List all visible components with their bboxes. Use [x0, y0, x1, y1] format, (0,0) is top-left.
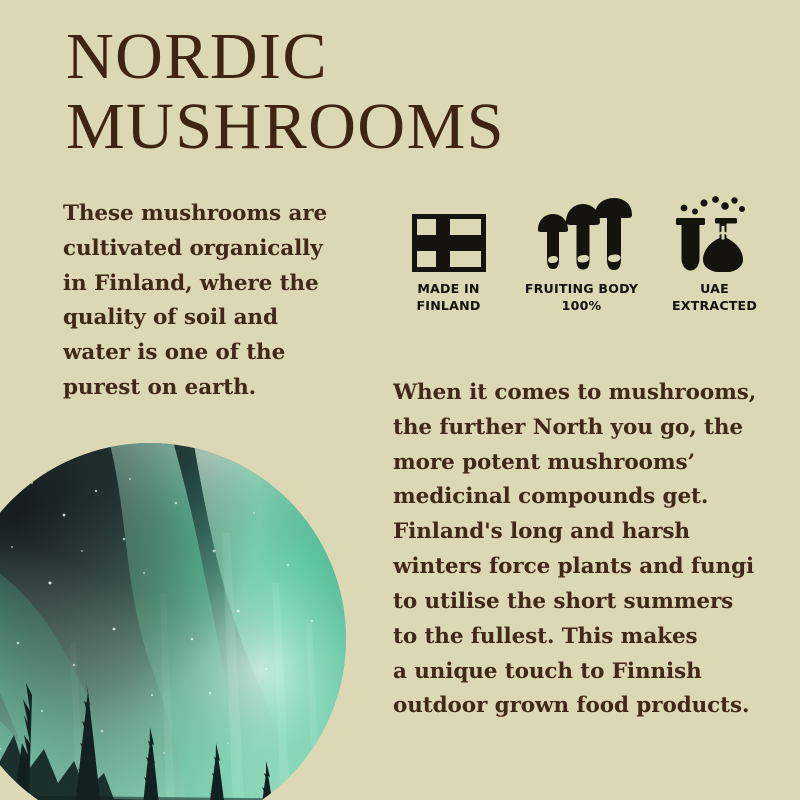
- intro-paragraph-line: water is one of the: [63, 336, 348, 371]
- badge-label-made-in-finland: MADE IN FINLAND: [417, 281, 481, 315]
- intro-paragraph-line: in Finland, where the: [63, 267, 348, 302]
- poster-canvas: NORDIC MUSHROOMS These mushrooms are cul…: [0, 0, 800, 800]
- three-mushrooms-icon: [532, 196, 632, 272]
- aurora-borealis-circle-photo: [0, 443, 346, 800]
- detail-paragraph-line: When it comes to mushrooms,: [393, 376, 763, 411]
- certification-badge-row: MADE IN FINLAND: [382, 196, 782, 315]
- detail-paragraph-line: a unique touch to Finnish: [393, 655, 763, 690]
- intro-paragraph-line: quality of soil and: [63, 301, 348, 336]
- badge-label-line: EXTRACTED: [672, 298, 757, 315]
- detail-paragraph-line: Finland's long and harsh: [393, 515, 763, 550]
- badge-label-line: MADE IN: [417, 281, 481, 298]
- page-title-line-1: NORDIC: [66, 22, 706, 92]
- badge-label-fruiting-body: FRUITING BODY 100%: [525, 281, 638, 315]
- page-title-line-2: MUSHROOMS: [66, 92, 706, 162]
- detail-paragraph-line: medicinal compounds get.: [393, 480, 763, 515]
- detail-paragraph: When it comes to mushrooms, the further …: [393, 376, 763, 724]
- detail-paragraph-line: more potent mushrooms’: [393, 446, 763, 481]
- badge-label-line: UAE: [672, 281, 757, 298]
- detail-paragraph-line: outdoor grown food products.: [393, 689, 763, 724]
- page-title: NORDIC MUSHROOMS: [66, 22, 706, 162]
- badge-label-line: 100%: [525, 298, 638, 315]
- badge-label-uae-extracted: UAE EXTRACTED: [672, 281, 757, 315]
- detail-paragraph-line: the further North you go, the: [393, 411, 763, 446]
- detail-paragraph-line: to the fullest. This makes: [393, 620, 763, 655]
- intro-paragraph: These mushrooms are cultivated organical…: [63, 197, 348, 406]
- finnish-flag-icon: [412, 196, 486, 272]
- detail-paragraph-line: winters force plants and fungi: [393, 550, 763, 585]
- intro-paragraph-line: purest on earth.: [63, 371, 348, 406]
- detail-paragraph-line: to utilise the short summers: [393, 585, 763, 620]
- lab-flask-test-tube-icon: [671, 196, 759, 272]
- intro-paragraph-line: These mushrooms are: [63, 197, 348, 232]
- badge-made-in-finland: MADE IN FINLAND: [382, 196, 515, 315]
- badge-label-line: FRUITING BODY: [525, 281, 638, 298]
- badge-fruiting-body: FRUITING BODY 100%: [515, 196, 648, 315]
- badge-uae-extracted: UAE EXTRACTED: [648, 196, 781, 315]
- badge-label-line: FINLAND: [417, 298, 481, 315]
- intro-paragraph-line: cultivated organically: [63, 232, 348, 267]
